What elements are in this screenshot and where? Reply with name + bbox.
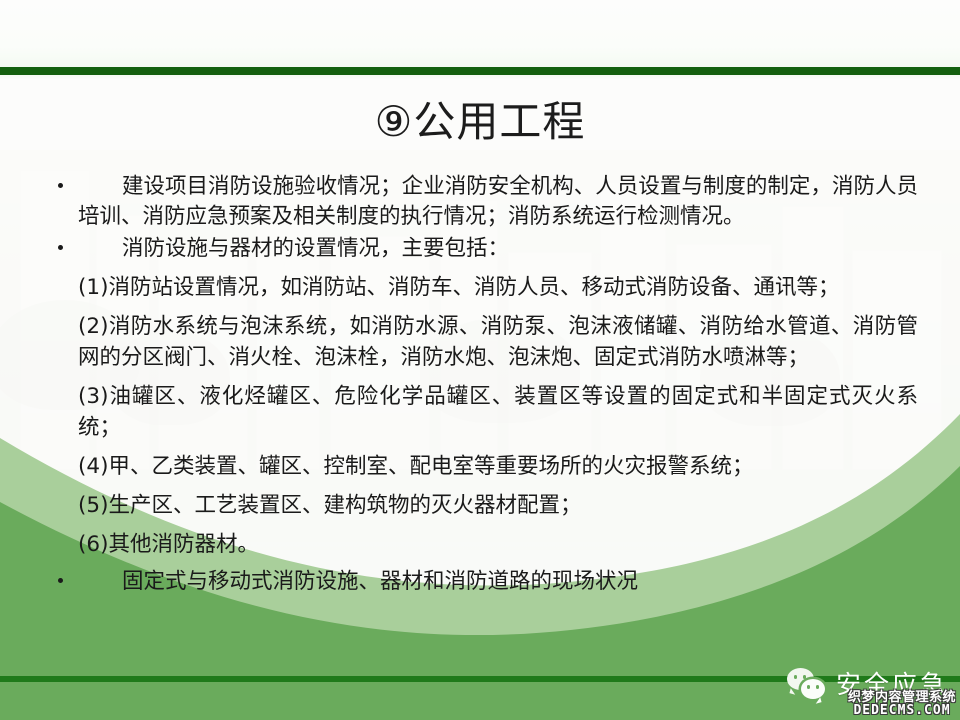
sub-item: (6)其他消防器材。 [52,529,918,560]
header-green-rule [0,67,960,75]
site-watermark-en: DEDECMS.COM [848,704,956,718]
bullet-dot-icon [58,183,63,188]
sub-item-text: (5)生产区、工艺装置区、建构筑物的灭火器材配置； [78,490,918,521]
site-watermark-cn: 织梦内容管理系统 [848,691,956,705]
wechat-icon [787,668,829,702]
bullet-text: 消防设施与器材的设置情况，主要包括： [78,234,918,264]
sub-item: (4)甲、乙类装置、罐区、控制室、配电室等重要场所的火灾报警系统； [52,451,918,482]
bullet-text: 建设项目消防设施验收情况；企业消防安全机构、人员设置与制度的制定，消防人员培训、… [78,172,918,232]
spacer [52,560,918,567]
sub-item-text: (1)消防站设置情况，如消防站、消防车、消防人员、移动式消防设备、通讯等； [78,272,918,303]
bullet-dot-icon [58,578,63,583]
sub-item-text: (6)其他消防器材。 [78,529,918,560]
wechat-bubble-front [801,679,825,699]
sub-item: (1)消防站设置情况，如消防站、消防车、消防人员、移动式消防设备、通讯等； [52,272,918,303]
bullet-text: 固定式与移动式消防设施、器材和消防道路的现场状况 [78,567,918,597]
page-title: ⑨公用工程 [0,96,960,148]
header-band [0,0,960,67]
bullet-dot-icon [58,245,63,250]
bullet-item: 固定式与移动式消防设施、器材和消防道路的现场状况 [52,567,918,597]
site-watermark: 织梦内容管理系统 DEDECMS.COM [848,691,956,718]
sub-item: (3)油罐区、液化烃罐区、危险化学品罐区、装置区等设置的固定式和半固定式灭火系统… [52,381,918,443]
sub-item-text: (4)甲、乙类装置、罐区、控制室、配电室等重要场所的火灾报警系统； [78,451,918,482]
sub-item: (2)消防水系统与泡沫系统，如消防水源、消防泵、泡沫液储罐、消防给水管道、消防管… [52,311,918,373]
slide-body: 建设项目消防设施验收情况；企业消防安全机构、人员设置与制度的制定，消防人员培训、… [52,172,918,599]
bullet-item: 建设项目消防设施验收情况；企业消防安全机构、人员设置与制度的制定，消防人员培训、… [52,172,918,232]
header-rule-underline [0,75,960,80]
sub-item-text: (3)油罐区、液化烃罐区、危险化学品罐区、装置区等设置的固定式和半固定式灭火系统… [78,381,918,443]
presentation-slide: ⑨公用工程 建设项目消防设施验收情况；企业消防安全机构、人员设置与制度的制定，消… [0,0,960,720]
sub-item-text: (2)消防水系统与泡沫系统，如消防水源、消防泵、泡沫液储罐、消防给水管道、消防管… [78,311,918,373]
sub-item: (5)生产区、工艺装置区、建构筑物的灭火器材配置； [52,490,918,521]
bullet-item: 消防设施与器材的设置情况，主要包括： [52,234,918,264]
